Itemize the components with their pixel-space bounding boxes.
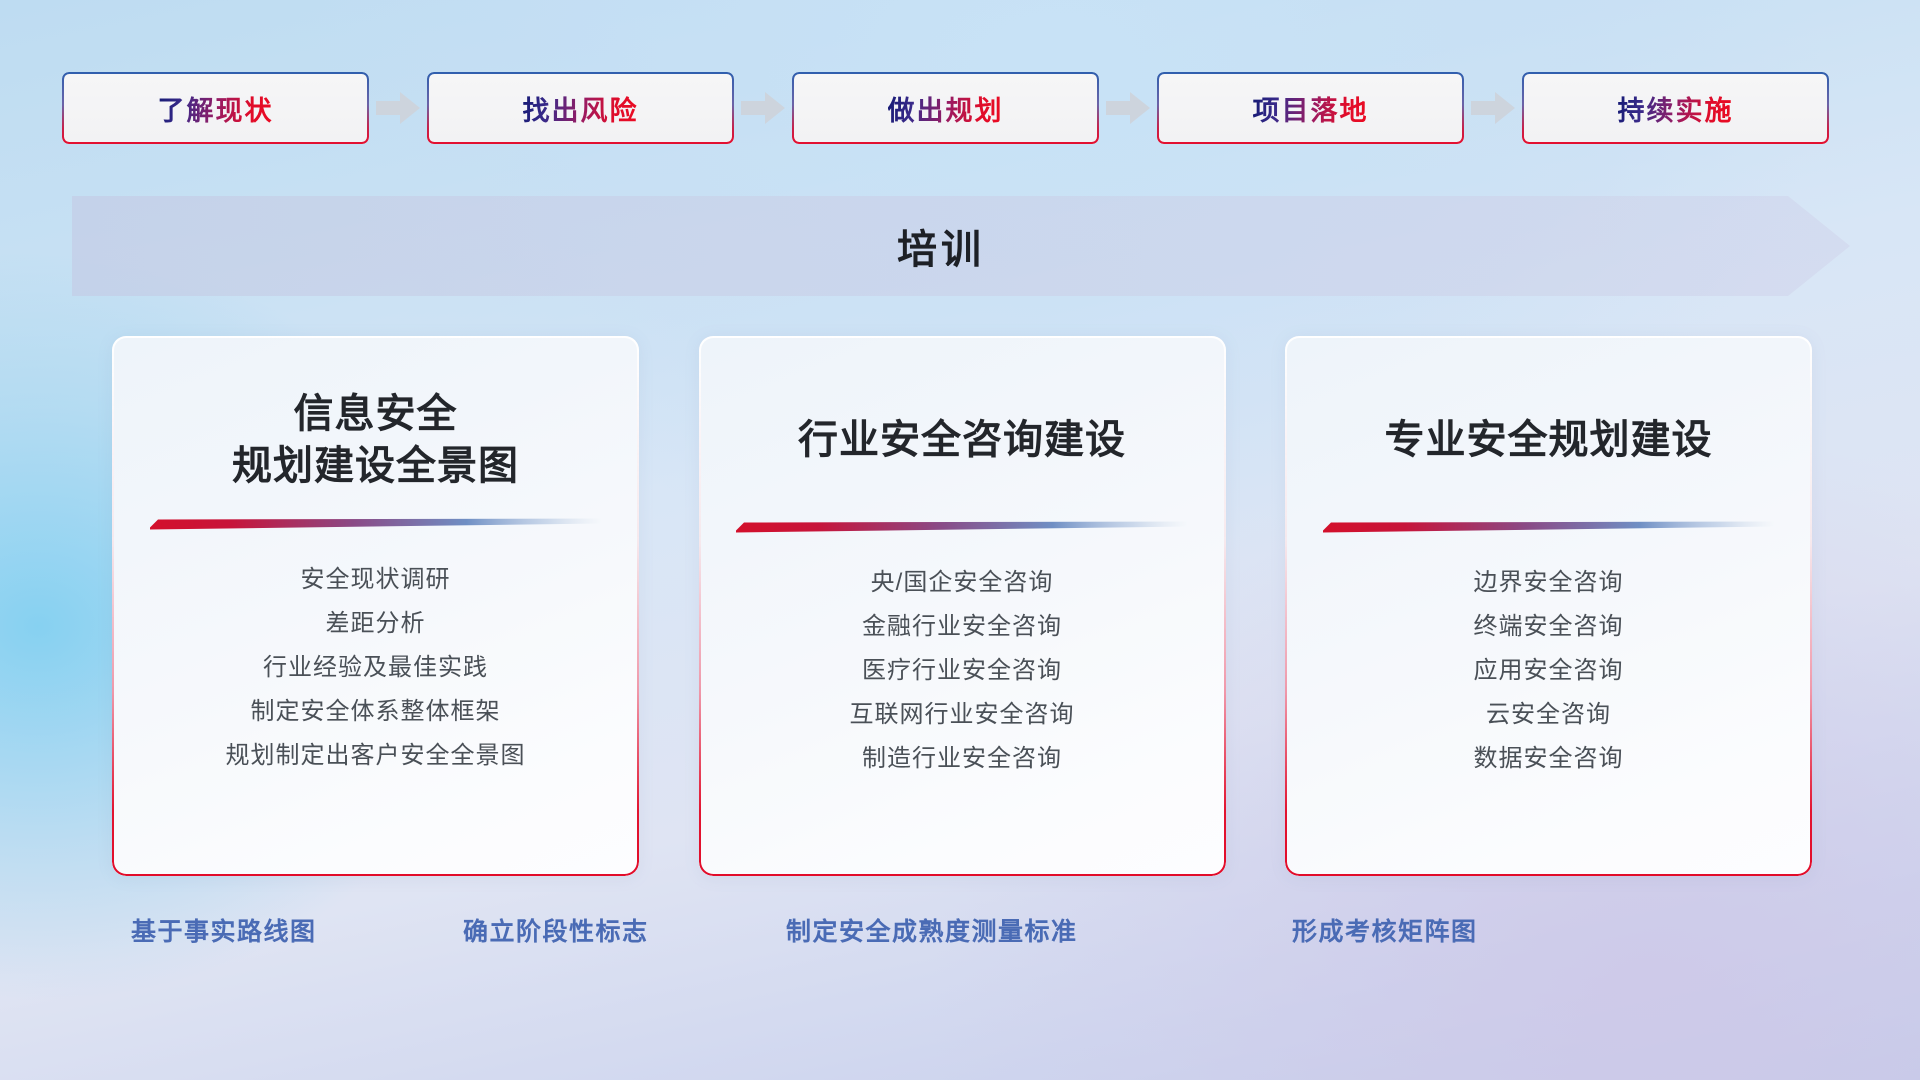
card-3-title: 专业安全规划建设 — [1385, 414, 1713, 466]
bottom-label-4: 形成考核矩阵图 — [1292, 912, 1478, 948]
step-box-4[interactable]: 项目落地 — [1157, 72, 1464, 144]
step-connector-arrow-1 — [369, 72, 427, 144]
list-item: 应用安全咨询 — [1474, 649, 1624, 693]
card-1[interactable]: 信息安全 规划建设全景图 — [112, 336, 639, 876]
list-item: 云安全咨询 — [1486, 693, 1611, 737]
step-box-2[interactable]: 找出风险 — [427, 72, 734, 144]
list-item: 制定安全体系整体框架 — [251, 690, 501, 734]
bottom-labels-row: 基于事实路线图 确立阶段性标志 制定安全成熟度测量标准 形成考核矩阵图 — [0, 912, 1920, 972]
step-label-1: 了解现状 — [158, 89, 274, 128]
banner-title: 培训 — [72, 196, 1850, 296]
list-item: 金融行业安全咨询 — [862, 605, 1062, 649]
step-label-2: 找出风险 — [523, 89, 639, 128]
card-1-title: 信息安全 规划建设全景图 — [232, 388, 519, 492]
step-connector-arrow-3 — [1099, 72, 1157, 144]
card-1-list: 安全现状调研 差距分析 行业经验及最佳实践 制定安全体系整体框架 规划制定出客户… — [142, 558, 609, 778]
bottom-label-1: 基于事实路线图 — [131, 912, 317, 948]
list-item: 医疗行业安全咨询 — [862, 649, 1062, 693]
list-item: 边界安全咨询 — [1474, 561, 1624, 605]
bottom-label-3: 制定安全成熟度测量标准 — [786, 912, 1078, 948]
list-item: 央/国企安全咨询 — [871, 561, 1054, 605]
step-box-1[interactable]: 了解现状 — [62, 72, 369, 144]
list-item: 规划制定出客户安全全景图 — [226, 734, 526, 778]
step-label-5: 持续实施 — [1618, 89, 1734, 128]
list-item: 制造行业安全咨询 — [862, 737, 1062, 781]
card-1-divider — [150, 518, 602, 530]
step-box-5[interactable]: 持续实施 — [1522, 72, 1829, 144]
list-item: 安全现状调研 — [301, 558, 451, 602]
step-box-3[interactable]: 做出规划 — [792, 72, 1099, 144]
card-1-title-line-2: 规划建设全景图 — [232, 440, 519, 492]
list-item: 终端安全咨询 — [1474, 605, 1624, 649]
bottom-label-2: 确立阶段性标志 — [463, 912, 649, 948]
card-2-list: 央/国企安全咨询 金融行业安全咨询 医疗行业安全咨询 互联网行业安全咨询 制造行… — [729, 561, 1196, 781]
list-item: 数据安全咨询 — [1474, 737, 1624, 781]
process-steps: 了解现状 找出风险 做出规划 项目落地 — [62, 72, 1858, 144]
step-label-3: 做出规划 — [888, 89, 1004, 128]
card-2-divider — [736, 521, 1188, 533]
card-2[interactable]: 行业安全咨询建设 — [699, 336, 1226, 876]
step-connector-arrow-2 — [734, 72, 792, 144]
list-item: 差距分析 — [326, 602, 426, 646]
slide-canvas: 了解现状 找出风险 做出规划 项目落地 — [0, 0, 1920, 1080]
card-3[interactable]: 专业安全规划建设 — [1285, 336, 1812, 876]
list-item: 互联网行业安全咨询 — [850, 693, 1075, 737]
cards-row: 信息安全 规划建设全景图 — [112, 336, 1812, 876]
step-label-4: 项目落地 — [1253, 89, 1369, 128]
card-3-list: 边界安全咨询 终端安全咨询 应用安全咨询 云安全咨询 数据安全咨询 — [1315, 561, 1782, 781]
training-banner: 培训 — [72, 196, 1850, 296]
card-1-title-line-1: 信息安全 — [232, 388, 519, 440]
step-connector-arrow-4 — [1464, 72, 1522, 144]
card-3-divider — [1323, 521, 1775, 533]
list-item: 行业经验及最佳实践 — [263, 646, 488, 690]
card-2-title: 行业安全咨询建设 — [798, 414, 1126, 466]
